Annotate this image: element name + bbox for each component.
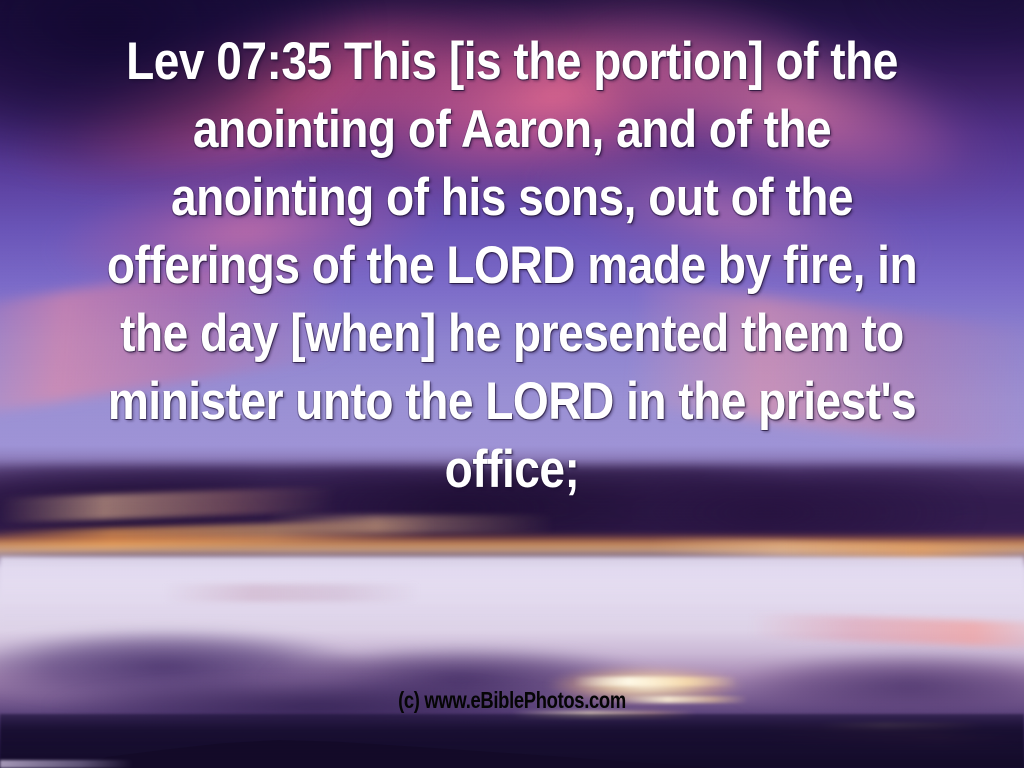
verse-image-canvas: Lev 07:35 This [is the portion] of the a… — [0, 0, 1024, 768]
bible-verse-text: Lev 07:35 This [is the portion] of the a… — [67, 28, 958, 504]
copyright-watermark: (c) www.eBiblePhotos.com — [102, 687, 921, 714]
